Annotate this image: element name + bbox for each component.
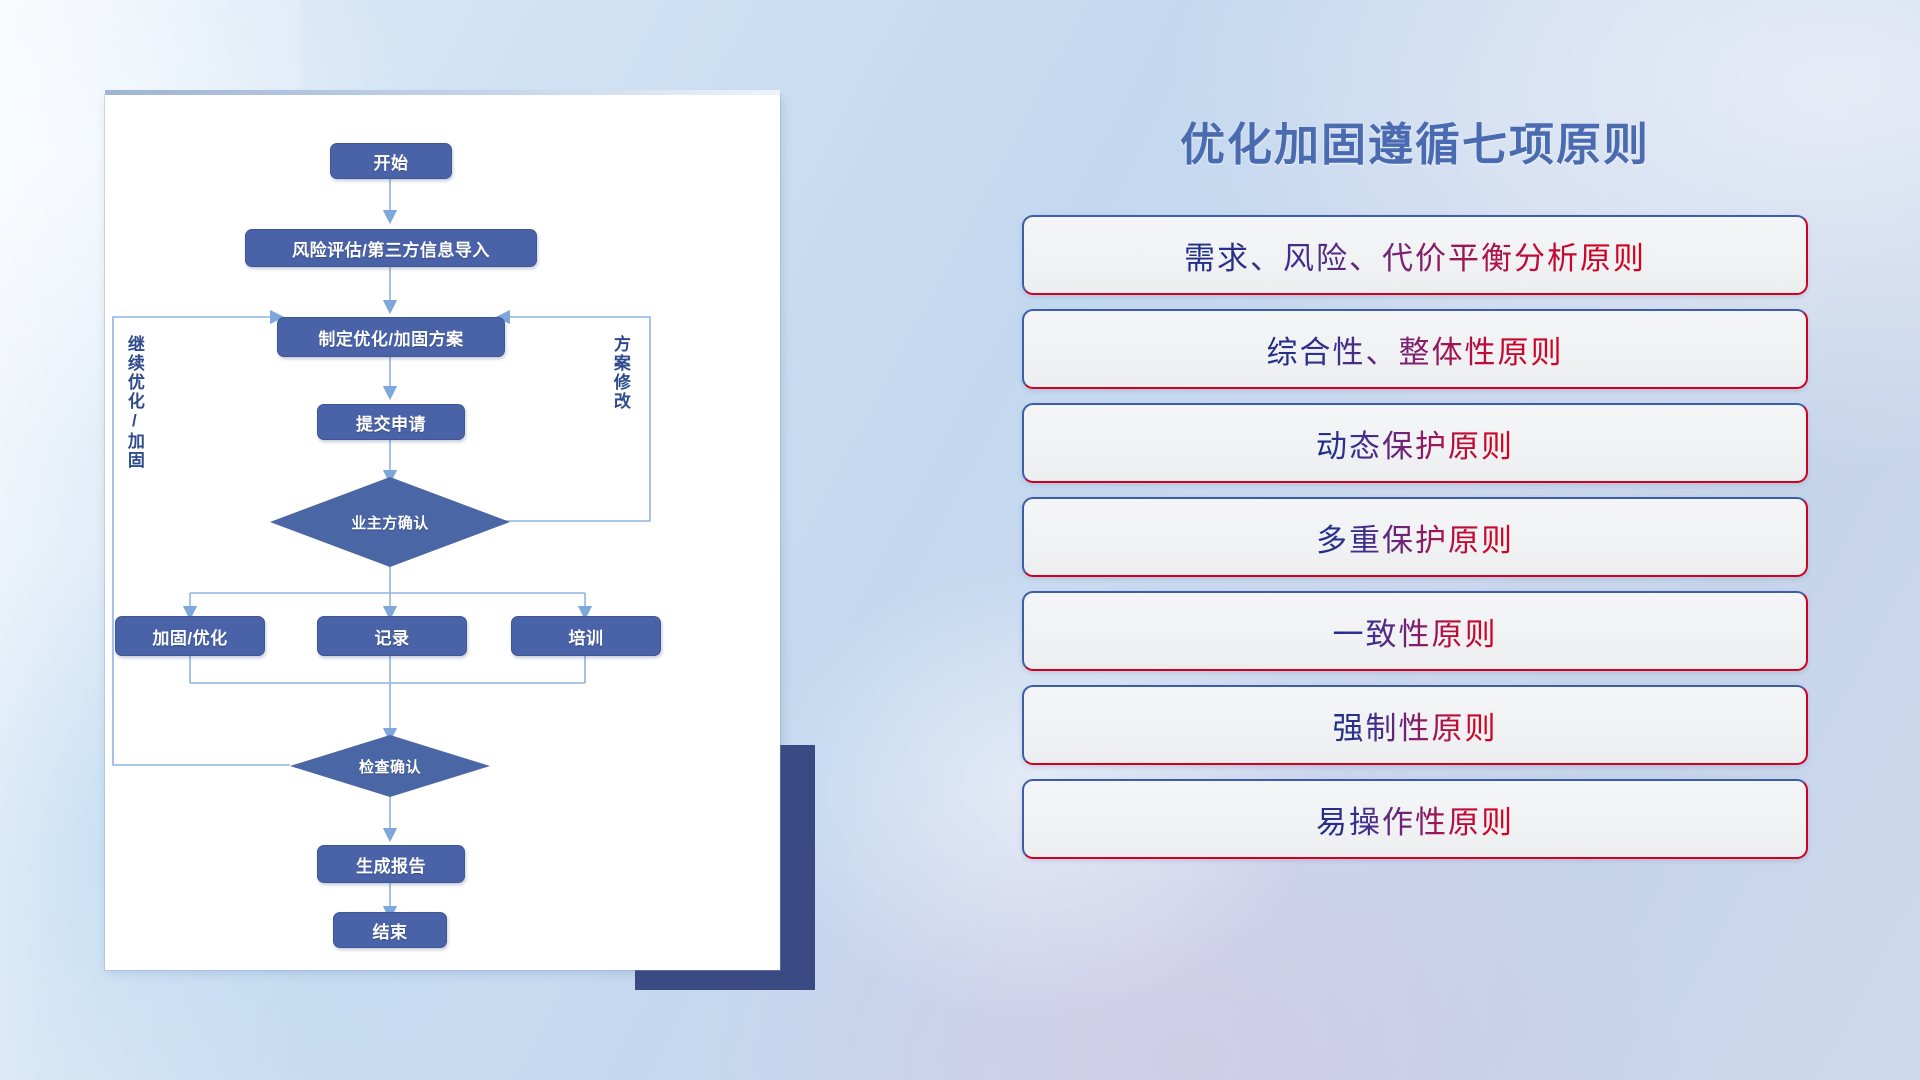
flow-node-label: 记录 bbox=[375, 624, 410, 649]
principles-list: 需求、风险、代价平衡分析原则 综合性、整体性原则 动态保护原则 多重保护原则 一… bbox=[1022, 215, 1808, 873]
flow-node-plan[interactable]: 制定优化/加固方案 bbox=[277, 317, 505, 357]
flow-node-label: 开始 bbox=[374, 149, 409, 174]
principle-card-2[interactable]: 综合性、整体性原则 bbox=[1022, 309, 1808, 389]
flow-node-label: 风险评估/第三方信息导入 bbox=[292, 236, 490, 261]
principle-card-5[interactable]: 一致性原则 bbox=[1022, 591, 1808, 671]
principle-card-1[interactable]: 需求、风险、代价平衡分析原则 bbox=[1022, 215, 1808, 295]
flow-node-start[interactable]: 开始 bbox=[330, 143, 452, 179]
principles-title: 优化加固遵循七项原则 bbox=[1000, 108, 1830, 173]
flow-node-label: 提交申请 bbox=[356, 410, 426, 435]
principle-card-4[interactable]: 多重保护原则 bbox=[1022, 497, 1808, 577]
flow-node-label: 结束 bbox=[373, 918, 408, 943]
flow-node-training[interactable]: 培训 bbox=[511, 616, 661, 656]
flow-node-check-confirm[interactable]: 检查确认 bbox=[290, 735, 490, 797]
principle-label: 易操作性原则 bbox=[1316, 797, 1514, 842]
edge-label-text: 继续优化/加固 bbox=[125, 335, 144, 470]
flow-node-label: 培训 bbox=[569, 624, 604, 649]
principle-label: 一致性原则 bbox=[1333, 609, 1498, 654]
principle-card-3[interactable]: 动态保护原则 bbox=[1022, 403, 1808, 483]
flow-node-submit[interactable]: 提交申请 bbox=[317, 404, 465, 440]
flow-node-report[interactable]: 生成报告 bbox=[317, 845, 465, 883]
flow-edge-label-plan-revision: 方案修改 bbox=[611, 335, 629, 475]
principle-card-7[interactable]: 易操作性原则 bbox=[1022, 779, 1808, 859]
edge-label-text: 方案修改 bbox=[611, 335, 630, 411]
principle-label: 综合性、整体性原则 bbox=[1267, 327, 1564, 372]
principle-label: 强制性原则 bbox=[1333, 703, 1498, 748]
flow-node-owner-confirm[interactable]: 业主方确认 bbox=[270, 477, 510, 567]
principles-pane: 优化加固遵循七项原则 需求、风险、代价平衡分析原则 综合性、整体性原则 动态保护… bbox=[1000, 80, 1830, 1020]
flow-node-risk-assessment[interactable]: 风险评估/第三方信息导入 bbox=[245, 229, 537, 267]
flow-node-reinforce[interactable]: 加固/优化 bbox=[115, 616, 265, 656]
flow-node-label: 检查确认 bbox=[359, 756, 421, 777]
flowchart-panel: 开始 风险评估/第三方信息导入 制定优化/加固方案 提交申请 业主方确认 加固/… bbox=[105, 95, 780, 970]
flow-node-label: 生成报告 bbox=[356, 852, 426, 877]
flow-node-end[interactable]: 结束 bbox=[333, 912, 447, 948]
flow-node-label: 制定优化/加固方案 bbox=[318, 325, 463, 350]
principle-card-6[interactable]: 强制性原则 bbox=[1022, 685, 1808, 765]
principle-label: 多重保护原则 bbox=[1316, 515, 1514, 560]
flow-node-label: 加固/优化 bbox=[152, 624, 227, 649]
flow-edge-label-continue-optimize: 继续优化/加固 bbox=[125, 335, 143, 525]
principle-label: 需求、风险、代价平衡分析原则 bbox=[1184, 233, 1646, 278]
flow-node-record[interactable]: 记录 bbox=[317, 616, 467, 656]
principle-label: 动态保护原则 bbox=[1316, 421, 1514, 466]
flow-node-label: 业主方确认 bbox=[351, 512, 429, 533]
